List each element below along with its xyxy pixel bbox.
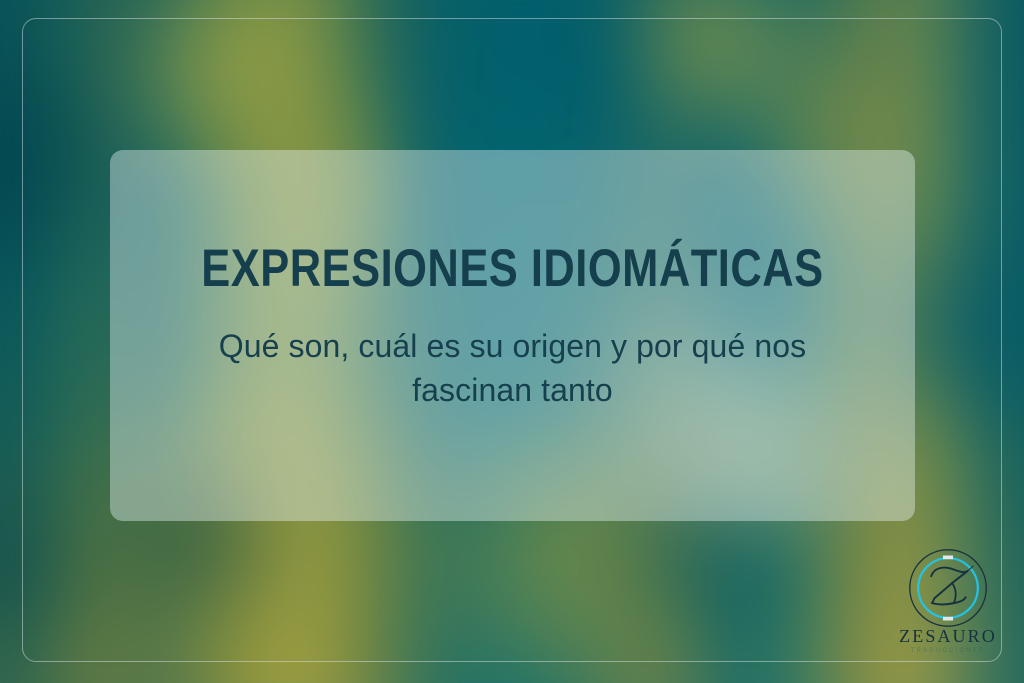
page-title: EXPRESIONES IDIOMÁTICAS xyxy=(201,242,823,295)
slide-canvas: EXPRESIONES IDIOMÁTICAS Qué son, cuál es… xyxy=(0,0,1024,683)
page-subtitle: Qué son, cuál es su origen y por qué nos… xyxy=(163,325,863,412)
content-card: EXPRESIONES IDIOMÁTICAS Qué son, cuál es… xyxy=(110,150,915,521)
zesauro-monogram-icon xyxy=(906,546,990,630)
logo-tagline: TRADUCCIONES xyxy=(911,648,985,654)
logo-wordmark: ZESAURO xyxy=(899,627,997,645)
brand-logo: ZESAURO TRADUCCIONES xyxy=(897,546,999,658)
